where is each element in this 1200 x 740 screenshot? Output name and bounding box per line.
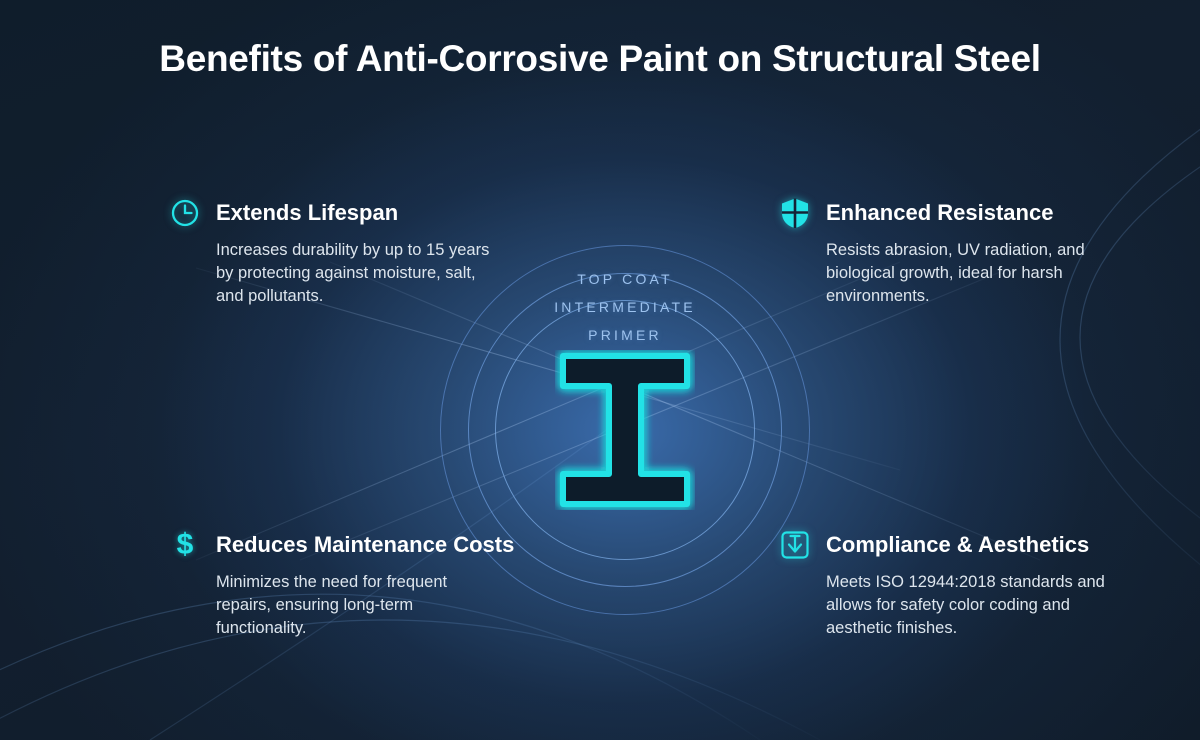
benefit-card-reduces-maintenance-costs: $ Reduces Maintenance Costs Minimizes th…: [168, 532, 498, 639]
certificate-check-icon: [778, 528, 812, 562]
shield-icon: [778, 196, 812, 230]
benefit-header: Compliance & Aesthetics: [778, 532, 1108, 562]
benefit-header: $ Reduces Maintenance Costs: [168, 532, 498, 562]
benefit-title: Reduces Maintenance Costs: [216, 532, 514, 557]
benefit-description: Increases durability by up to 15 years b…: [216, 239, 498, 307]
infographic-canvas: Benefits of Anti-Corrosive Paint on Stru…: [0, 0, 1200, 740]
clock-icon: [168, 196, 202, 230]
ring-label-top-coat: TOP COAT: [577, 271, 673, 287]
benefit-description: Meets ISO 12944:2018 standards and allow…: [826, 571, 1108, 639]
page-title: Benefits of Anti-Corrosive Paint on Stru…: [0, 38, 1200, 80]
benefit-card-extends-lifespan: Extends Lifespan Increases durability by…: [168, 200, 498, 307]
benefit-card-compliance-aesthetics: Compliance & Aesthetics Meets ISO 12944:…: [778, 532, 1108, 639]
ring-label-primer: PRIMER: [588, 327, 662, 343]
dollar-sign-icon: $: [168, 528, 202, 562]
benefit-title: Compliance & Aesthetics: [826, 532, 1089, 557]
benefit-title: Enhanced Resistance: [826, 200, 1053, 225]
benefit-title: Extends Lifespan: [216, 200, 398, 225]
ring-label-intermediate: INTERMEDIATE: [554, 299, 696, 315]
benefit-description: Minimizes the need for frequent repairs,…: [216, 571, 498, 639]
benefit-card-enhanced-resistance: Enhanced Resistance Resists abrasion, UV…: [778, 200, 1108, 307]
benefit-description: Resists abrasion, UV radiation, and biol…: [826, 239, 1108, 307]
benefit-header: Enhanced Resistance: [778, 200, 1108, 230]
i-beam-steel-icon: [555, 350, 695, 510]
benefit-header: Extends Lifespan: [168, 200, 498, 230]
